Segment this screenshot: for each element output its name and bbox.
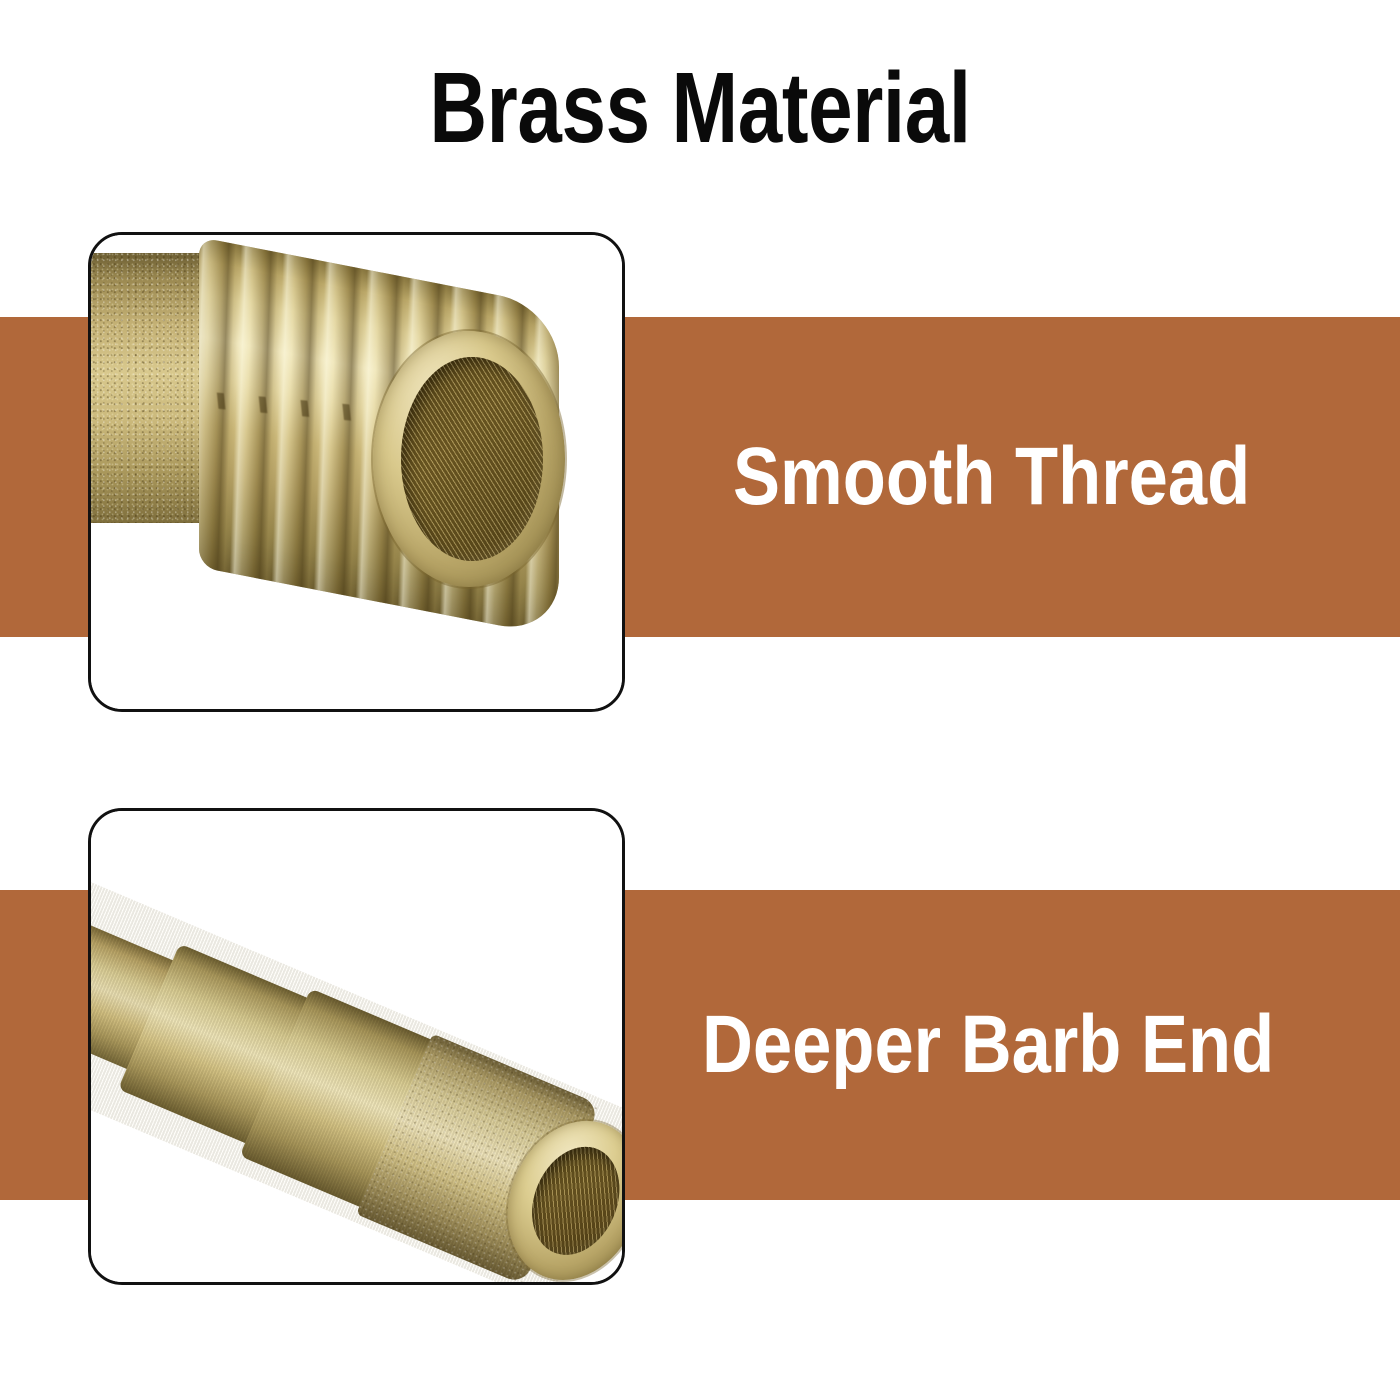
feature-caption-smooth-thread: Smooth Thread (733, 436, 1250, 518)
thread-end-face (373, 331, 565, 587)
brass-threaded-nipple-photo (91, 235, 622, 709)
infographic-canvas: Brass Material Smooth Thread (0, 0, 1400, 1400)
thread-end-bore (401, 357, 543, 561)
product-photo-card-2 (88, 808, 625, 1285)
page-title: Brass Material (140, 58, 1260, 158)
product-photo-card-1 (88, 232, 625, 712)
brass-hose-barb-photo (91, 811, 622, 1282)
feature-caption-deeper-barb-end: Deeper Barb End (702, 1004, 1274, 1086)
barb-assembly (91, 849, 622, 1282)
barb-end-bore (516, 1133, 622, 1268)
